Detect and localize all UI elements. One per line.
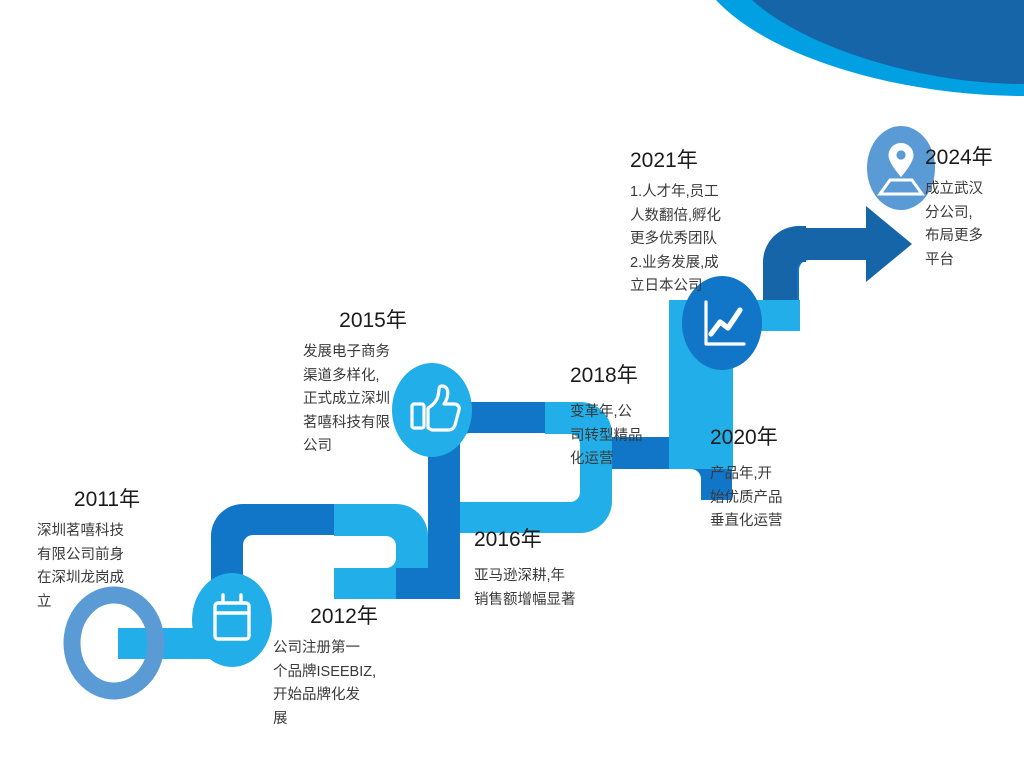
milestone-2012-year: 2012年 bbox=[273, 604, 415, 630]
milestone-2011-desc: 深圳茗嘻科技 有限公司前身 在深圳龙岗成 立 bbox=[37, 520, 177, 614]
milestone-2024-desc: 成立武汉 分公司, 布局更多 平台 bbox=[925, 178, 1024, 272]
milestone-2011-year: 2011年 bbox=[37, 487, 177, 513]
timeline-infographic: 2011年 深圳茗嘻科技 有限公司前身 在深圳龙岗成 立 2012年 公司注册第… bbox=[0, 0, 1024, 768]
milestone-2012-desc: 公司注册第一 个品牌ISEEBIZ, 开始品牌化发 展 bbox=[273, 637, 415, 731]
milestone-2015-desc: 发展电子商务 渠道多样化, 正式成立深圳 茗嘻科技有限 公司 bbox=[303, 341, 443, 458]
milestone-2012: 2012年 公司注册第一 个品牌ISEEBIZ, 开始品牌化发 展 bbox=[273, 604, 415, 731]
milestone-2018-year: 2018年 bbox=[570, 363, 682, 389]
milestone-2018-desc: 变革年,公 司转型精品 化运营 bbox=[570, 401, 682, 471]
milestone-2016-year: 2016年 bbox=[474, 527, 624, 553]
milestone-2020: 2020年 产品年,开 始优质产品 垂直化运营 bbox=[710, 425, 822, 534]
node-2012[interactable] bbox=[192, 573, 272, 667]
milestone-2024: 2024年 成立武汉 分公司, 布局更多 平台 bbox=[925, 145, 1024, 272]
milestone-2015-year: 2015年 bbox=[303, 308, 443, 334]
milestone-2021-desc: 1.人才年,员工 人数翻倍,孵化 更多优秀团队 2.业务发展,成 立日本公司 bbox=[630, 181, 754, 298]
milestone-2024-year: 2024年 bbox=[925, 145, 1024, 171]
timeline-graphic bbox=[0, 0, 1024, 768]
milestone-2011: 2011年 深圳茗嘻科技 有限公司前身 在深圳龙岗成 立 bbox=[37, 487, 177, 614]
node-2012-circle bbox=[192, 573, 272, 667]
milestone-2020-year: 2020年 bbox=[710, 425, 822, 451]
milestone-2021-year: 2021年 bbox=[630, 148, 754, 174]
milestone-2016: 2016年 亚马逊深耕,年 销售额增幅显著 bbox=[474, 527, 624, 612]
milestone-2021: 2021年 1.人才年,员工 人数翻倍,孵化 更多优秀团队 2.业务发展,成 立… bbox=[630, 148, 754, 299]
milestone-2018: 2018年 变革年,公 司转型精品 化运营 bbox=[570, 363, 682, 472]
end-arrow-shaft bbox=[795, 228, 873, 260]
milestone-2020-desc: 产品年,开 始优质产品 垂直化运营 bbox=[710, 463, 822, 533]
milestone-2015: 2015年 发展电子商务 渠道多样化, 正式成立深圳 茗嘻科技有限 公司 bbox=[303, 308, 443, 459]
milestone-2016-desc: 亚马逊深耕,年 销售额增幅显著 bbox=[474, 565, 624, 612]
